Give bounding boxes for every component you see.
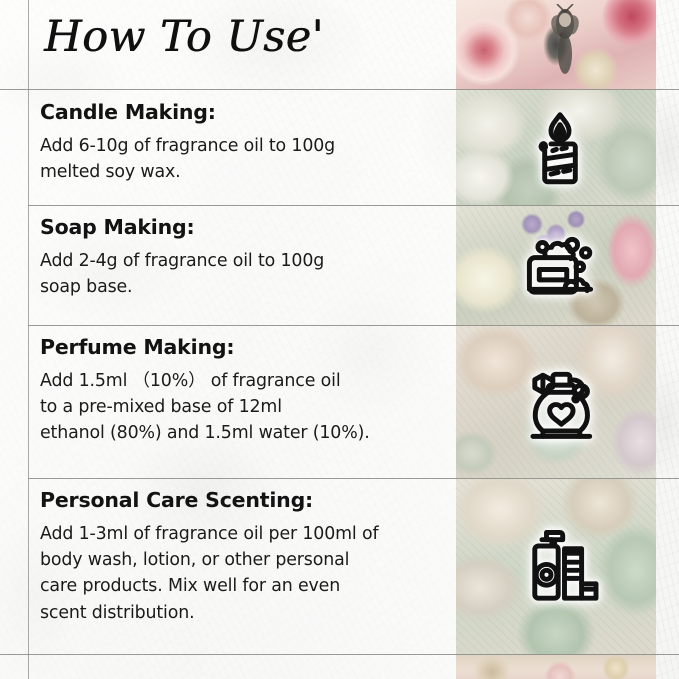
section-body: Add 2-4g of fragrance oil to 100g soap b… [40,248,440,301]
divider-line-2 [28,205,679,206]
section-body: Add 1-3ml of fragrance oil per 100ml of … [40,521,440,627]
section-body: Add 6-10g of fragrance oil to 100g melte… [40,133,440,186]
top-floral-photo-strip [456,0,656,90]
section-body: Add 1.5ml （10%） of fragrance oil to a pr… [40,368,440,447]
section-personal-care-scenting: Personal Care Scenting: Add 1-3ml of fra… [40,489,440,626]
page-title: How To Use' [44,12,324,62]
section-heading: Candle Making: [40,101,440,124]
section-soap-making: Soap Making: Add 2-4g of fragrance oil t… [40,216,440,300]
soap-bar-icon-glyph [515,220,605,310]
section-candle-making: Candle Making: Add 6-10g of fragrance oi… [40,101,440,185]
personal-care-products-icon [512,516,608,612]
moth-illustration [544,4,586,84]
personal-care-products-icon-glyph [515,519,605,609]
divider-line-4 [28,478,679,479]
vertical-divider-line [28,0,29,679]
how-to-use-infographic: How To Use' Candle Making: Add 6-10g of … [0,0,679,679]
candle-icon-glyph [515,103,605,193]
perfume-bottle-icon-glyph [515,359,605,449]
section-perfume-making: Perfume Making: Add 1.5ml （10%） of fragr… [40,336,440,447]
divider-line-3 [28,325,679,326]
divider-line-1 [0,89,679,90]
section-heading: Perfume Making: [40,336,440,359]
section-heading: Personal Care Scenting: [40,489,440,512]
section-heading: Soap Making: [40,216,440,239]
right-edge-faded-strip [656,0,679,679]
soap-bar-icon [512,217,608,313]
bottom-floral-photo-strip [456,655,656,679]
perfume-bottle-icon [512,356,608,452]
candle-icon [512,100,608,196]
divider-line-5 [0,654,679,655]
